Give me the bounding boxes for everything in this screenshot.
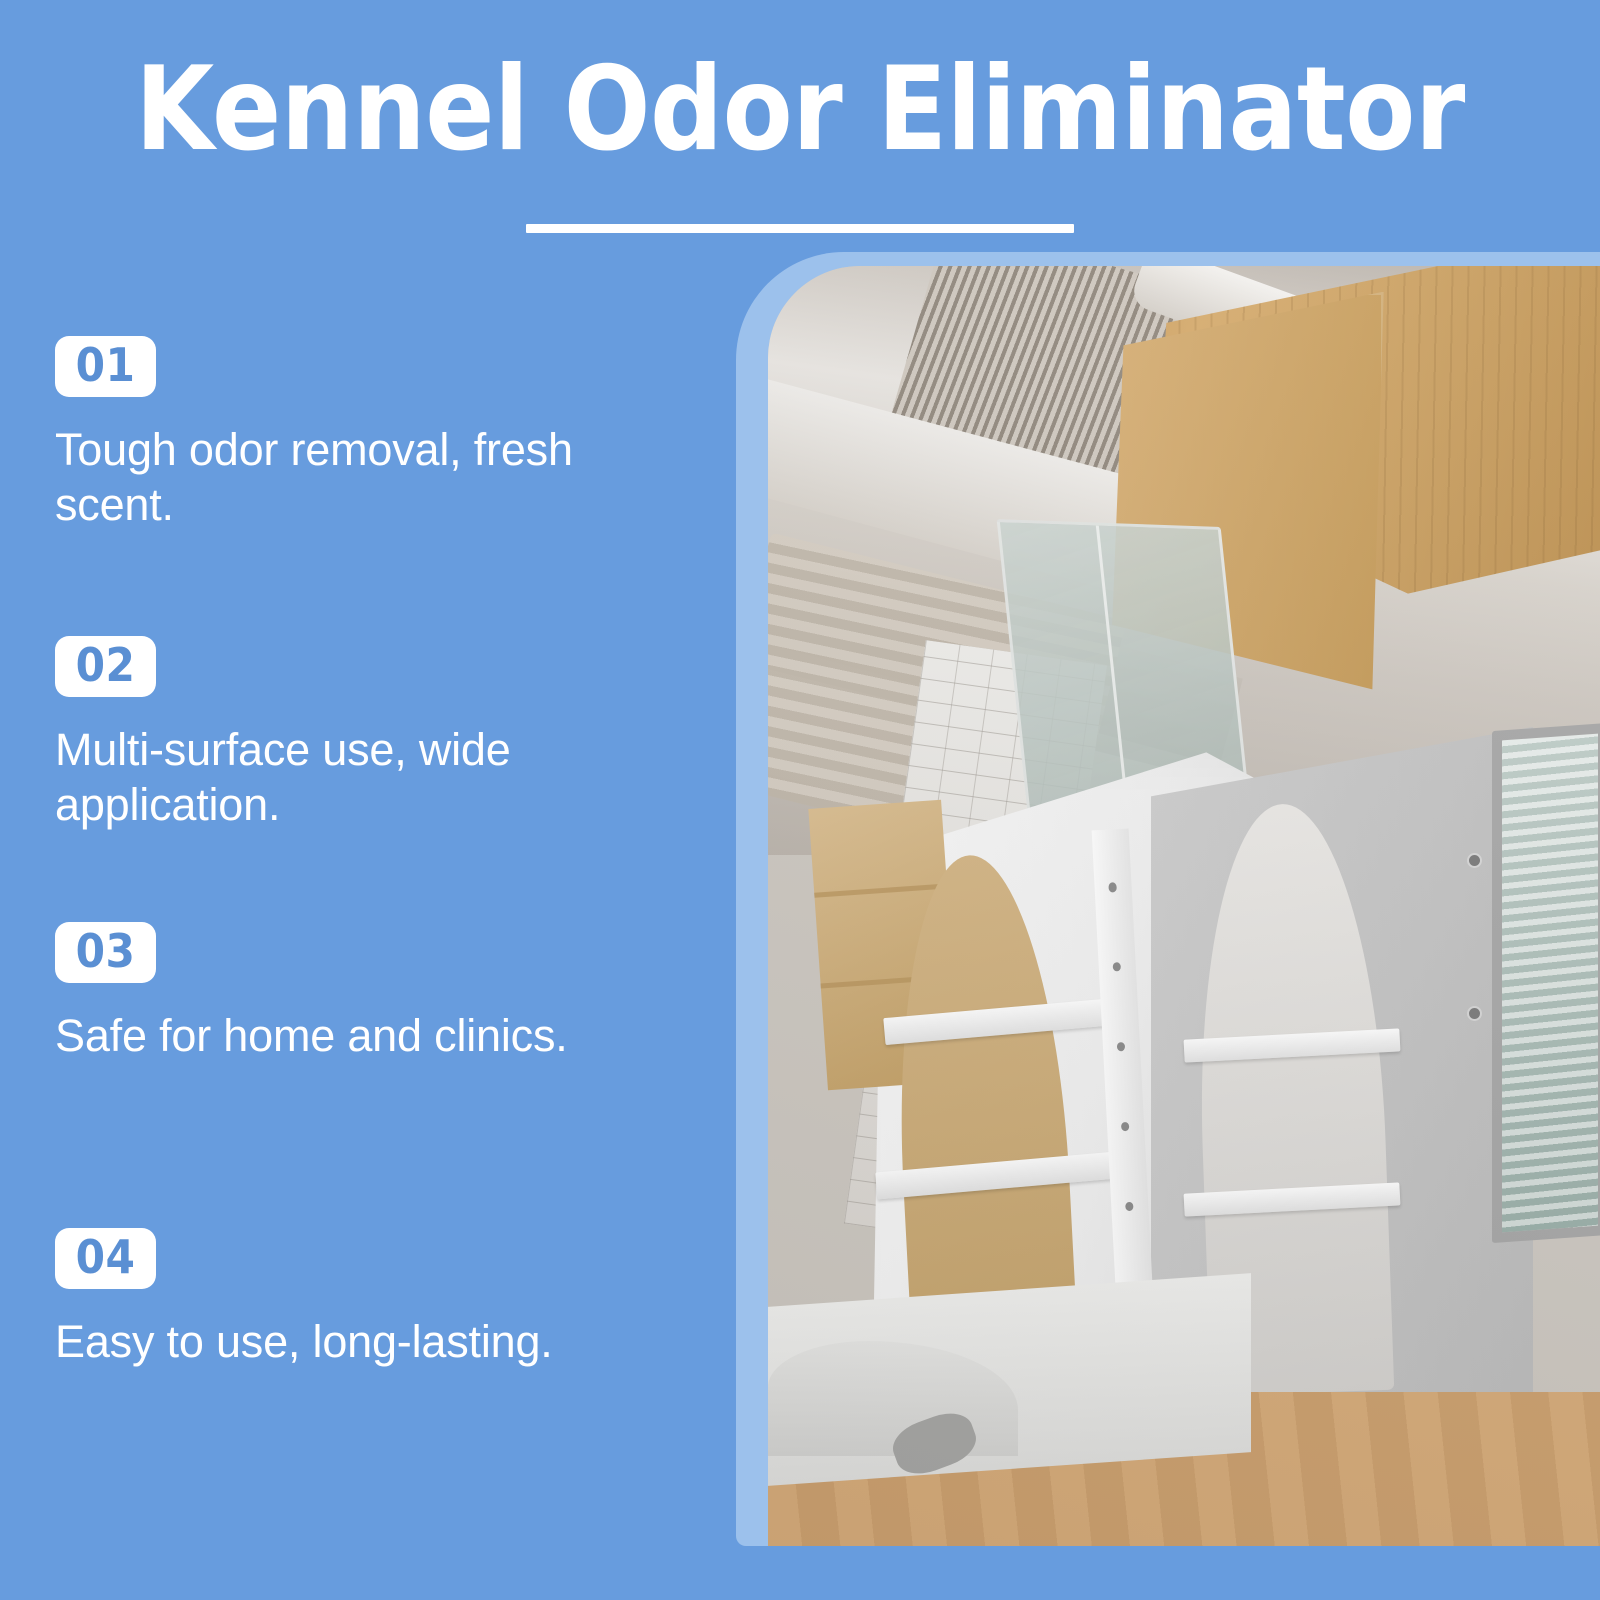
feature-badge-02: 02 xyxy=(55,636,156,697)
glass-door-with-blinds xyxy=(1492,723,1600,1243)
feature-number-01: 01 xyxy=(76,341,136,390)
post-hole-4 xyxy=(1121,1122,1130,1132)
feature-text-03: Safe for home and clinics. xyxy=(55,1009,675,1064)
title-underline-rule xyxy=(526,224,1074,233)
post-hole-1 xyxy=(1109,883,1118,893)
side-shelf-line-1 xyxy=(814,884,947,898)
title-block: Kennel Odor Eliminator xyxy=(0,46,1600,233)
feature-item-01: 01 Tough odor removal, fresh scent. xyxy=(55,336,695,533)
feature-number-04: 04 xyxy=(76,1233,136,1282)
post-hole-2 xyxy=(1113,962,1122,972)
window-blinds xyxy=(1502,733,1598,1232)
feature-item-02: 02 Multi-surface use, wide application. xyxy=(55,636,695,833)
feature-badge-01: 01 xyxy=(55,336,156,397)
photo-scene xyxy=(768,266,1600,1546)
product-photo-frame xyxy=(736,252,1600,1546)
post-hole-5 xyxy=(1125,1202,1134,1212)
feature-item-04: 04 Easy to use, long-lasting. xyxy=(55,1228,695,1370)
feature-text-01: Tough odor removal, fresh scent. xyxy=(55,423,675,533)
feature-text-02: Multi-surface use, wide application. xyxy=(55,723,675,833)
feature-text-04: Easy to use, long-lasting. xyxy=(55,1315,675,1370)
feature-item-03: 03 Safe for home and clinics. xyxy=(55,922,695,1064)
product-feature-poster: Kennel Odor Eliminator 01 Tough odor rem… xyxy=(0,0,1600,1600)
page-title: Kennel Odor Eliminator xyxy=(96,46,1504,174)
door-handle-upper xyxy=(1469,855,1480,866)
feature-badge-04: 04 xyxy=(55,1228,156,1289)
post-hole-3 xyxy=(1117,1042,1126,1052)
feature-number-02: 02 xyxy=(76,641,136,690)
feature-badge-03: 03 xyxy=(55,922,156,983)
product-photo xyxy=(768,266,1600,1546)
feature-number-03: 03 xyxy=(76,927,136,976)
